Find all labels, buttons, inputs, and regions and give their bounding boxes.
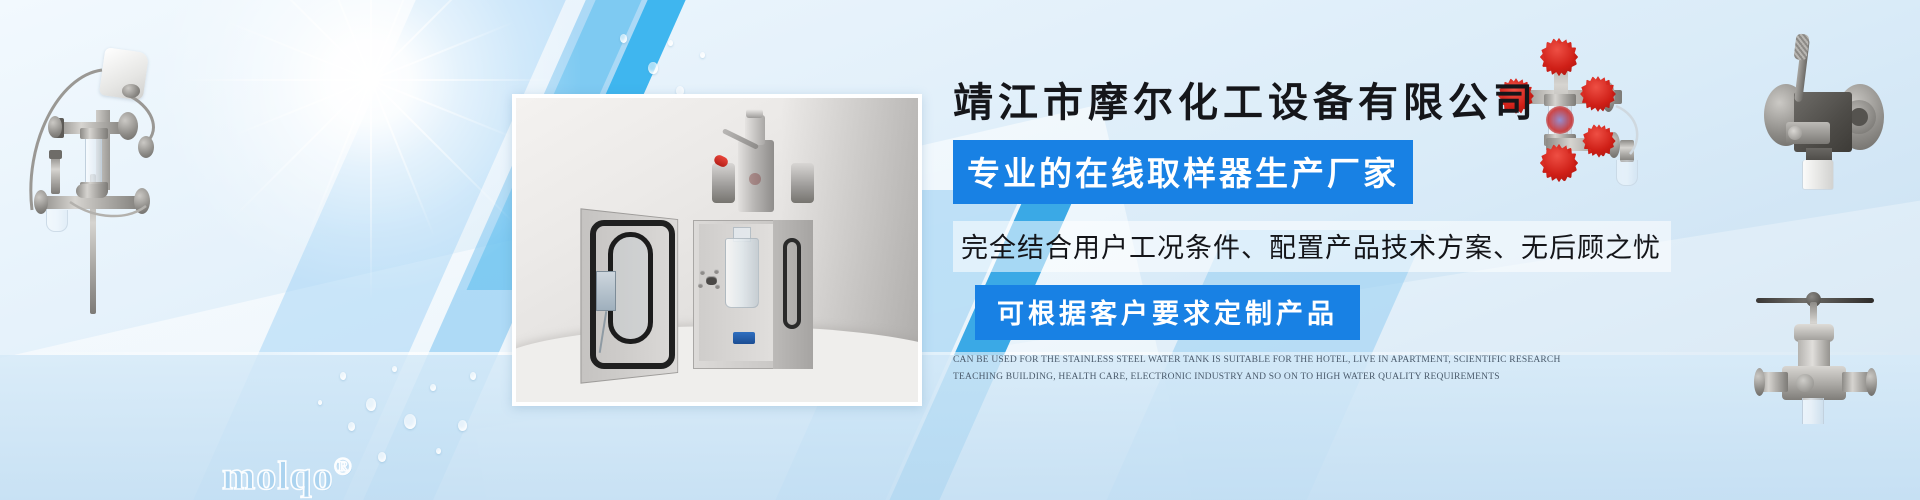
photo-bolt-plate — [697, 268, 725, 295]
registered-mark-icon: ® — [334, 455, 353, 481]
photo-valve-assembly — [717, 110, 805, 226]
company-name: 靖江市摩尔化工设备有限公司 — [953, 78, 1883, 128]
english-description: CAN BE USED FOR THE STAINLESS STEEL WATE… — [953, 352, 1573, 385]
product-banner: 靖江市摩尔化工设备有限公司 专业的在线取样器生产厂家 完全结合用户工况条件、配置… — [0, 0, 1920, 500]
photo-door-latch — [596, 271, 616, 311]
tubing-icon — [10, 24, 170, 314]
product-photo-sampling-cabinet — [516, 98, 918, 402]
watermark-logo: molqo® — [222, 452, 353, 499]
tagline-feature: 完全结合用户工况条件、配置产品技术方案、无后顾之忧 — [953, 221, 1671, 272]
photo-blue-cap — [733, 332, 755, 344]
watermark-text: molqo — [222, 453, 334, 498]
product-left-pole-sampler — [10, 24, 170, 314]
photo-sample-bottle — [725, 238, 759, 308]
photo-cabinet-handle — [783, 238, 801, 329]
tagline-primary-badge: 专业的在线取样器生产厂家 — [953, 140, 1413, 204]
banner-copy: 靖江市摩尔化工设备有限公司 专业的在线取样器生产厂家 完全结合用户工况条件、配置… — [953, 78, 1883, 385]
product-photo-frame — [512, 94, 922, 406]
tagline-custom-badge: 可根据客户要求定制产品 — [975, 285, 1360, 340]
